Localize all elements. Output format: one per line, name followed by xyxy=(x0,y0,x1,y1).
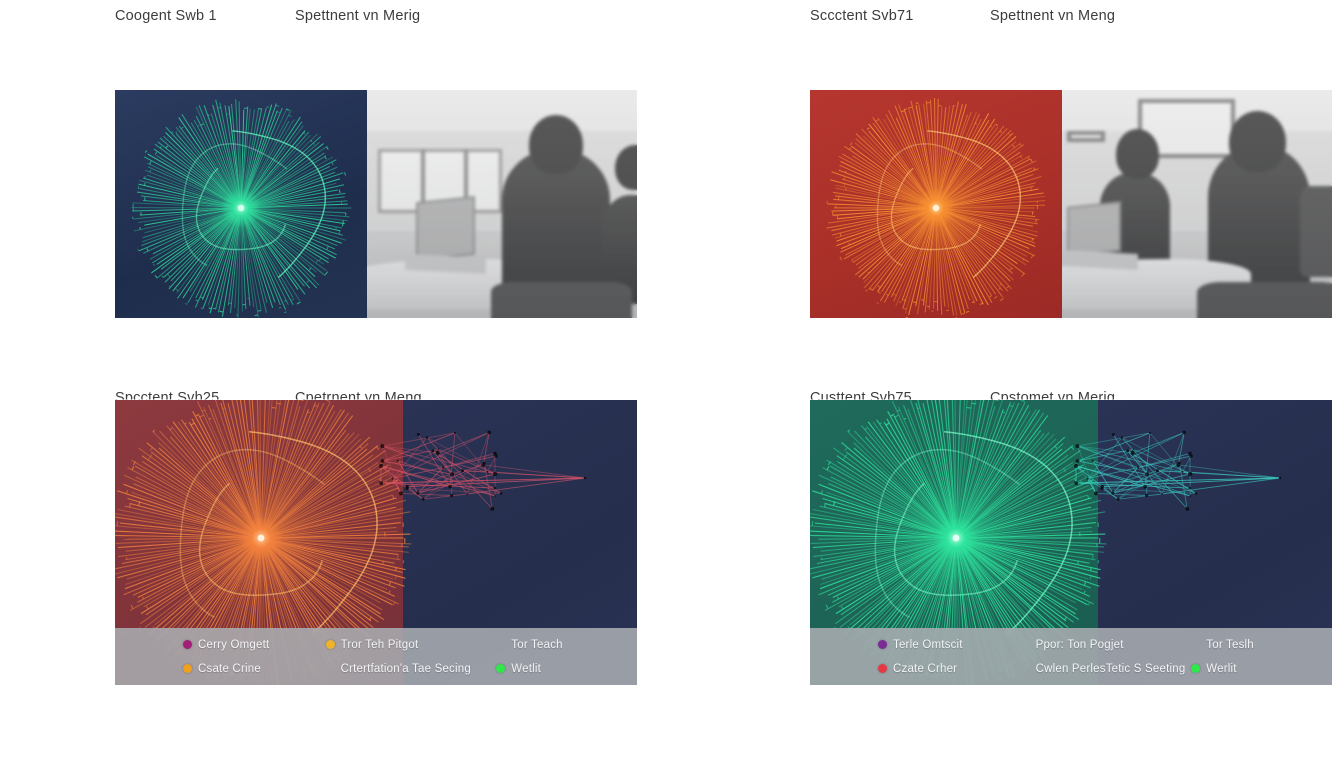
legend-label: Crtertfation'a Tae Secing xyxy=(341,663,471,675)
legend-label: Tor Teach xyxy=(511,639,562,651)
legend-label: Ppor: Ton Pogjet xyxy=(1036,639,1124,651)
legend-label: Csate Crine xyxy=(198,663,261,675)
legend-item[interactable]: Crtertfation'a Tae Secing xyxy=(326,663,497,675)
panel-top-left-photo[interactable] xyxy=(367,90,637,318)
panel-cell-bottom-right: Terle Omtscit Ppor: Ton Pogjet Tor Teslh xyxy=(810,400,1344,700)
panel-bottom-left[interactable]: Cerry Omgett Tror Teh Pitgot Tor Teach C… xyxy=(115,400,637,685)
legend-label: Tror Teh Pitgot xyxy=(341,639,419,651)
legend-item[interactable]: Ppor: Ton Pogjet xyxy=(1021,639,1192,651)
legend-row: Terle Omtscit Ppor: Ton Pogjet Tor Teslh xyxy=(810,634,1332,656)
caption-cell-bottom-left: Spcctent Svb25 Cpetrnent vn Meng xyxy=(115,390,725,400)
radial-burst-green-navy xyxy=(115,90,367,318)
radial-burst-orange-red xyxy=(810,90,1062,318)
grid-gap-bottom xyxy=(725,400,810,700)
legend-item[interactable]: Czate Crher xyxy=(878,663,1021,675)
panel-top-right-photo[interactable] xyxy=(1062,90,1332,318)
legend-row: Cerry Omgett Tror Teh Pitgot Tor Teach xyxy=(115,634,637,656)
legend-item[interactable]: Tror Teh Pitgot xyxy=(326,639,497,651)
grid-gap-mid-2 xyxy=(725,390,810,400)
panel-bottom-left-legend: Cerry Omgett Tror Teh Pitgot Tor Teach C… xyxy=(115,628,637,685)
panel-top-right-caption-left: Sccctent Svb71 xyxy=(810,8,990,24)
panel-grid: Coogent Swb 1 Spettnent vn Merig Scccten… xyxy=(0,0,1344,768)
grid-gap-top xyxy=(725,0,810,90)
panel-top-left-viz[interactable] xyxy=(115,90,367,318)
caption-cell-bottom-right: Custtent Svb75 Cpstomet vn Merig xyxy=(810,390,1344,400)
panel-bottom-right[interactable]: Terle Omtscit Ppor: Ton Pogjet Tor Teslh xyxy=(810,400,1332,685)
panel-bottom-right-legend: Terle Omtscit Ppor: Ton Pogjet Tor Teslh xyxy=(810,628,1332,685)
legend-label: Czate Crher xyxy=(893,663,957,675)
caption-cell-top-right: Sccctent Svb71 Spettnent vn Meng xyxy=(810,0,1344,90)
office-photo-grayscale xyxy=(367,90,637,318)
legend-label: Cerry Omgett xyxy=(198,639,269,651)
panel-cell-bottom-left: Cerry Omgett Tror Teh Pitgot Tor Teach C… xyxy=(115,400,725,700)
panel-top-right[interactable] xyxy=(810,90,1332,318)
panel-cell-top-left xyxy=(115,90,725,390)
panel-top-right-viz[interactable] xyxy=(810,90,1062,318)
legend-item[interactable]: Wetlit xyxy=(496,663,637,675)
panel-top-right-caption-right: Spettnent vn Meng xyxy=(990,8,1115,24)
legend-swatch xyxy=(183,664,192,673)
legend-swatch xyxy=(496,664,505,673)
legend-item[interactable]: Werlit xyxy=(1191,663,1332,675)
panel-top-left[interactable] xyxy=(115,90,637,318)
legend-item[interactable]: Tor Teach xyxy=(496,639,637,651)
office-photo-grayscale xyxy=(1062,90,1332,318)
legend-item[interactable]: Cwlen PerlesTetic S Seeting xyxy=(1021,663,1192,675)
legend-item[interactable]: Csate Crine xyxy=(183,663,326,675)
panel-top-left-caption-left: Coogent Swb 1 xyxy=(115,8,295,24)
grid-gap-mid-1 xyxy=(725,90,810,390)
legend-item[interactable]: Cerry Omgett xyxy=(183,639,326,651)
panel-cell-top-right xyxy=(810,90,1344,390)
panel-top-left-caption-right: Spettnent vn Merig xyxy=(295,8,420,24)
legend-label: Cwlen PerlesTetic S Seeting xyxy=(1036,663,1186,675)
legend-swatch xyxy=(1191,664,1200,673)
legend-row: Czate Crher Cwlen PerlesTetic S Seeting … xyxy=(810,658,1332,680)
legend-item[interactable]: Tor Teslh xyxy=(1191,639,1332,651)
legend-item[interactable]: Terle Omtscit xyxy=(878,639,1021,651)
legend-swatch xyxy=(183,640,192,649)
legend-label: Wetlit xyxy=(511,663,541,675)
legend-row: Csate Crine Crtertfation'a Tae Secing We… xyxy=(115,658,637,680)
legend-swatch xyxy=(878,664,887,673)
legend-label: Tor Teslh xyxy=(1206,639,1254,651)
legend-swatch xyxy=(326,640,335,649)
legend-label: Werlit xyxy=(1206,663,1236,675)
legend-swatch xyxy=(878,640,887,649)
legend-label: Terle Omtscit xyxy=(893,639,963,651)
caption-cell-top-left: Coogent Swb 1 Spettnent vn Merig xyxy=(115,0,725,90)
